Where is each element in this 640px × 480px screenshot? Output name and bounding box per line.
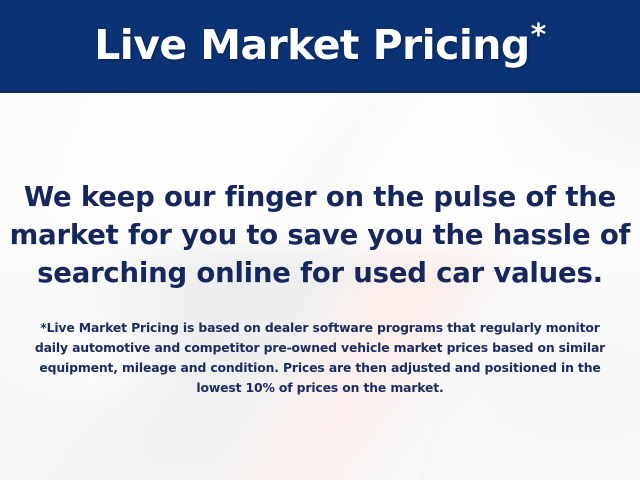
page-title: Live Market Pricing* (94, 21, 545, 70)
headline-line-3: searching online for used car values. (0, 254, 640, 292)
headline-line-2: market for you to save you the hassle of (0, 216, 640, 254)
footnote-asterisk: * (531, 18, 546, 53)
disclaimer-line-4: lowest 10% of prices on the market. (22, 378, 618, 398)
headline-line-1: We keep our finger on the pulse of the (0, 178, 640, 216)
disclaimer-text: *Live Market Pricing is based on dealer … (22, 318, 618, 398)
disclaimer-line-1: *Live Market Pricing is based on dealer … (22, 318, 618, 338)
page-title-text: Live Market Pricing (94, 21, 529, 69)
headline: We keep our finger on the pulse of the m… (0, 178, 640, 292)
header-banner: Live Market Pricing* (0, 0, 640, 93)
disclaimer-line-3: equipment, mileage and condition. Prices… (22, 358, 618, 378)
disclaimer-line-2: daily automotive and competitor pre-owne… (22, 338, 618, 358)
live-market-pricing-slide: Live Market Pricing* We keep our finger … (0, 0, 640, 480)
